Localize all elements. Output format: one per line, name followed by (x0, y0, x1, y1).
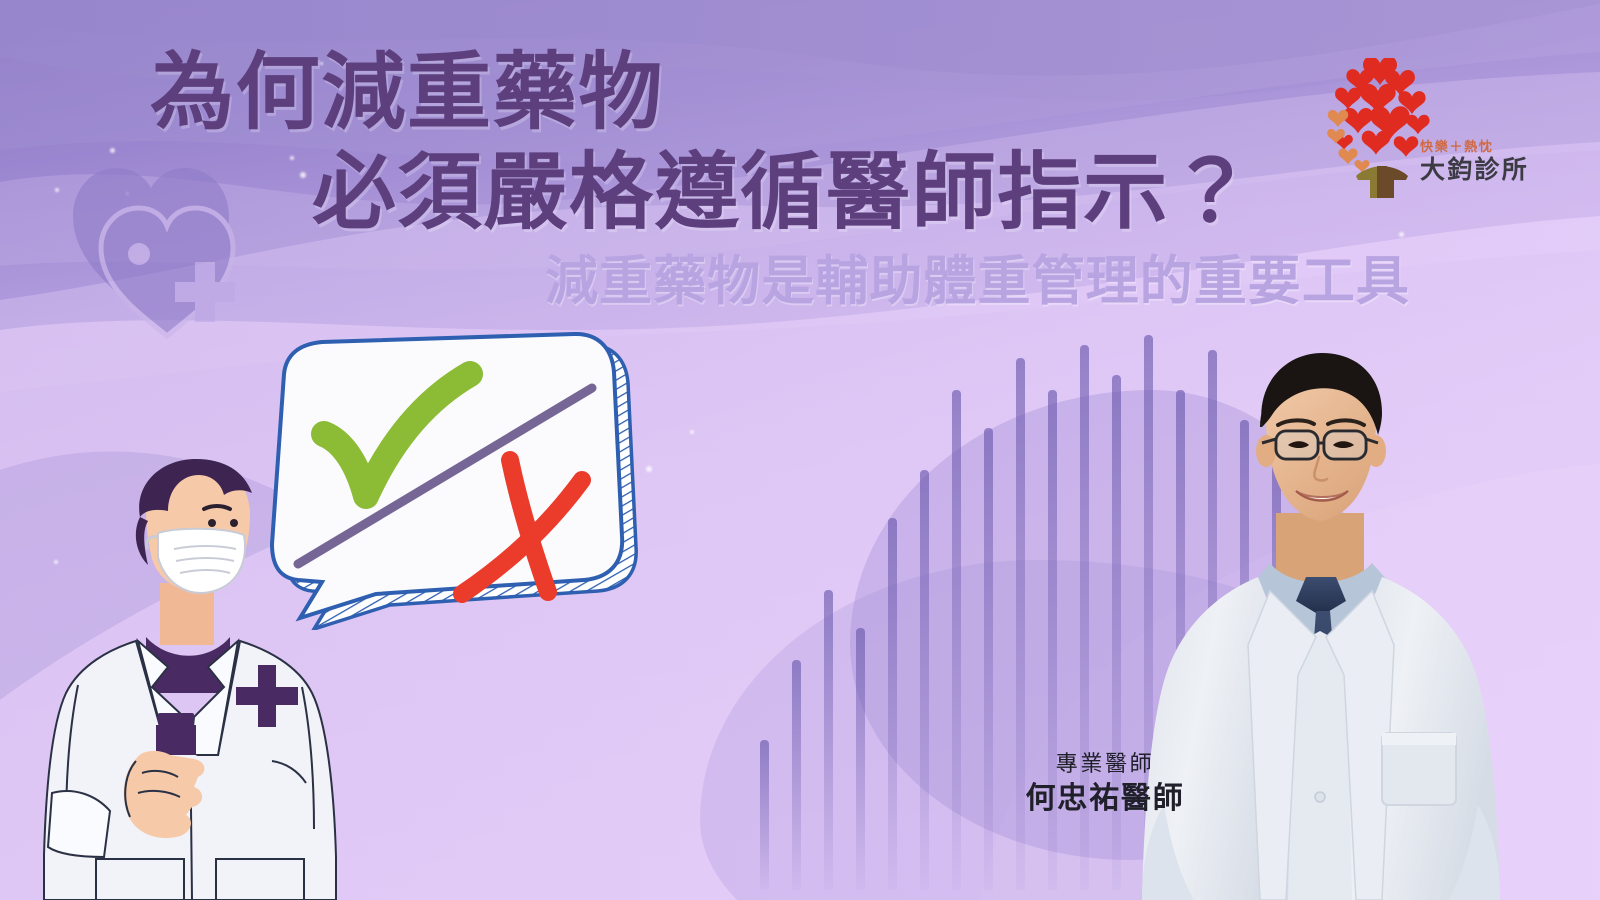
caption-role: 專業醫師 (1010, 752, 1200, 776)
caption-name: 何忠祐醫師 (1010, 782, 1200, 815)
logo-text-block: 快樂＋熱忱 大鈞診所 (1420, 140, 1529, 183)
page-title-line1: 為何減重藥物 (150, 52, 1300, 136)
masked-doctor-illustration (18, 455, 358, 900)
sparkle-dot (690, 430, 694, 434)
sparkle-dot (646, 466, 652, 472)
logo-clinic-name: 大鈞診所 (1420, 158, 1529, 183)
headline-block: 為何減重藥物 必須嚴格遵循醫師指示？ 減重藥物是輔助體重管理的重要工具 (0, 52, 1300, 309)
logo-tagline: 快樂＋熱忱 (1420, 140, 1529, 153)
doctor-portrait-photo (1120, 345, 1520, 900)
poster-canvas: 為何減重藥物 必須嚴格遵循醫師指示？ 減重藥物是輔助體重管理的重要工具 (0, 0, 1600, 900)
clinic-logo: 快樂＋熱忱 大鈞診所 (1322, 58, 1572, 203)
sparkle-dot (1399, 232, 1404, 237)
page-title-line2: 必須嚴格遵循醫師指示？ (312, 152, 1300, 236)
doctor-caption: 專業醫師 何忠祐醫師 (1010, 752, 1200, 815)
page-subtitle: 減重藥物是輔助體重管理的重要工具 (545, 256, 1300, 309)
